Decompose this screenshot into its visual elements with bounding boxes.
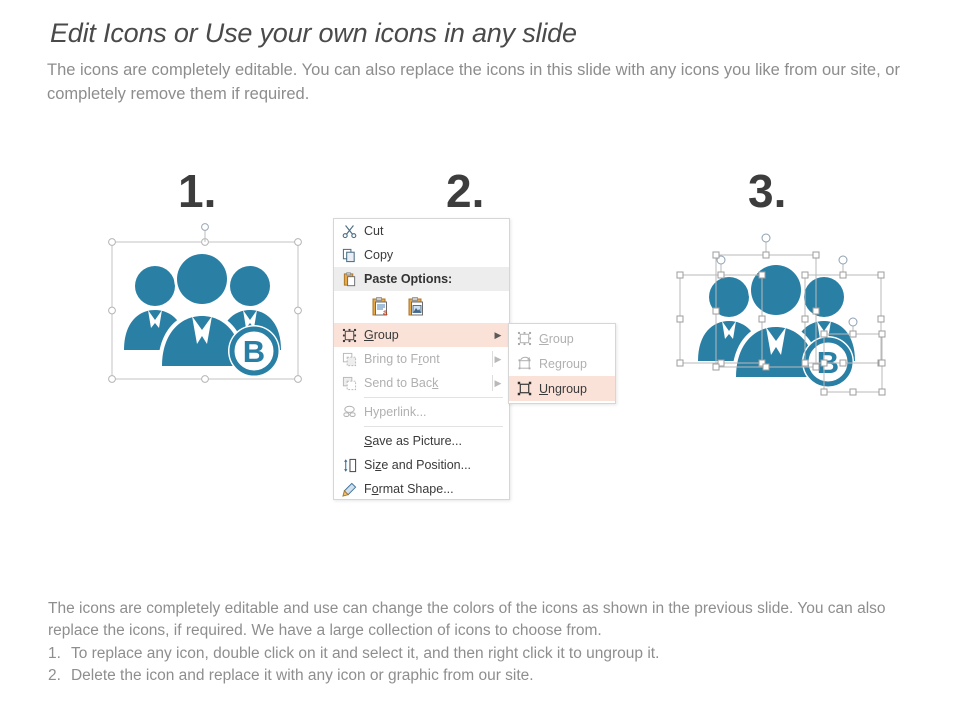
- team-of-three-icon-artwork: [124, 250, 281, 377]
- menu-item-hyperlink[interactable]: Hyperlink...: [334, 400, 509, 424]
- menu-separator: [364, 397, 503, 398]
- resize-handle[interactable]: [713, 364, 719, 370]
- paste-options-row[interactable]: a: [334, 291, 509, 323]
- resize-handle[interactable]: [713, 252, 719, 258]
- submenu-item-ungroup[interactable]: Ungroup: [509, 376, 615, 401]
- footer-list: 1. To replace any icon, double click on …: [48, 643, 938, 688]
- menu-item-cut[interactable]: Cut: [334, 219, 509, 243]
- hyperlink-icon: [334, 400, 364, 424]
- resize-handle[interactable]: [813, 364, 819, 370]
- send-to-back-icon: [334, 371, 364, 395]
- resize-handle[interactable]: [713, 308, 719, 314]
- submenu-item-label: Regroup: [539, 357, 611, 371]
- list-marker: 2.: [48, 665, 61, 687]
- bring-to-front-icon: [334, 347, 364, 371]
- menu-item-label: Bring to Front: [364, 352, 491, 366]
- page-title: Edit Icons or Use your own icons in any …: [50, 18, 577, 49]
- svg-text:a: a: [383, 308, 388, 317]
- list-text: Delete the icon and replace it with any …: [71, 665, 534, 687]
- rotation-handle[interactable]: [202, 224, 209, 231]
- resize-handle-s[interactable]: [202, 376, 209, 383]
- resize-handle[interactable]: [763, 364, 769, 370]
- resize-handle[interactable]: [813, 252, 819, 258]
- resize-handle[interactable]: [802, 360, 808, 366]
- resize-handle[interactable]: [718, 272, 724, 278]
- size-position-icon: [334, 453, 364, 477]
- resize-handle[interactable]: [677, 272, 683, 278]
- resize-handle[interactable]: [879, 389, 885, 395]
- resize-handle[interactable]: [840, 360, 846, 366]
- resize-handle[interactable]: [677, 316, 683, 322]
- list-marker: 1.: [48, 643, 61, 665]
- menu-item-label: Format Shape...: [364, 482, 505, 496]
- footer-notes: The icons are completely editable and us…: [48, 598, 938, 687]
- submenu-item-group[interactable]: Group: [509, 326, 615, 351]
- resize-handle-sw[interactable]: [109, 376, 116, 383]
- menu-item-label: Cut: [364, 224, 505, 238]
- group-icon: [509, 327, 539, 351]
- step-number-3: 3.: [748, 168, 786, 214]
- resize-handle[interactable]: [821, 360, 827, 366]
- menu-item-label: Send to Back: [364, 376, 491, 390]
- team-of-three-icon-artwork: [698, 261, 855, 388]
- list-text: To replace any icon, double click on it …: [71, 643, 659, 665]
- regroup-icon: [509, 352, 539, 376]
- submenu-item-label: Ungroup: [539, 382, 611, 396]
- menu-item-copy[interactable]: Copy: [334, 243, 509, 267]
- resize-handle[interactable]: [821, 389, 827, 395]
- chevron-right-icon: ▶: [491, 354, 505, 365]
- resize-handle[interactable]: [840, 272, 846, 278]
- menu-item-size-and-position[interactable]: Size and Position...: [334, 453, 509, 477]
- resize-handle[interactable]: [813, 308, 819, 314]
- resize-handle[interactable]: [759, 272, 765, 278]
- menu-item-label: Size and Position...: [364, 458, 505, 472]
- menu-divider: [492, 351, 493, 367]
- submenu-item-label: Group: [539, 332, 611, 346]
- menu-item-bring-to-front[interactable]: Bring to Front ▶: [334, 347, 509, 371]
- resize-handle-nw[interactable]: [109, 239, 116, 246]
- resize-handle[interactable]: [759, 316, 765, 322]
- resize-handle[interactable]: [878, 316, 884, 322]
- resize-handle[interactable]: [850, 331, 856, 337]
- menu-item-label: Save as Picture...: [364, 434, 505, 448]
- no-icon: [334, 429, 364, 453]
- resize-handle[interactable]: [878, 272, 884, 278]
- chevron-right-icon: ▶: [491, 330, 505, 341]
- menu-divider: [492, 375, 493, 391]
- rotation-handle-right-person[interactable]: [839, 256, 847, 264]
- slide-canvas: Edit Icons or Use your own icons in any …: [0, 0, 960, 720]
- context-menu[interactable]: Cut Copy Paste Options:: [333, 218, 510, 500]
- resize-handle[interactable]: [879, 331, 885, 337]
- team-icon-ungrouped[interactable]: [672, 233, 887, 408]
- list-item: 2. Delete the icon and replace it with a…: [48, 665, 938, 687]
- menu-item-label: Paste Options:: [364, 272, 505, 286]
- resize-handle[interactable]: [879, 360, 885, 366]
- resize-handle[interactable]: [802, 316, 808, 322]
- group-icon: [334, 323, 364, 347]
- menu-item-label: Hyperlink...: [364, 405, 505, 419]
- menu-item-paste-options: Paste Options:: [334, 267, 509, 291]
- resize-handle[interactable]: [821, 331, 827, 337]
- menu-item-send-to-back[interactable]: Send to Back ▶: [334, 371, 509, 395]
- page-subtitle: The icons are completely editable. You c…: [47, 58, 927, 107]
- step-number-2: 2.: [446, 168, 484, 214]
- menu-item-group[interactable]: Group ▶: [334, 323, 509, 347]
- resize-handle-w[interactable]: [109, 307, 116, 314]
- ungroup-icon: [509, 377, 539, 401]
- format-shape-icon: [334, 477, 364, 501]
- chevron-right-icon: ▶: [491, 378, 505, 389]
- copy-icon: [334, 243, 364, 267]
- rotation-handle-center-person[interactable]: [762, 234, 770, 242]
- resize-handle-se[interactable]: [295, 376, 302, 383]
- resize-handle[interactable]: [802, 272, 808, 278]
- menu-item-format-shape[interactable]: Format Shape...: [334, 477, 509, 501]
- footer-paragraph: The icons are completely editable and us…: [48, 598, 938, 643]
- menu-item-label: Group: [364, 328, 491, 342]
- scissors-icon: [334, 219, 364, 243]
- paste-picture-icon[interactable]: [404, 294, 430, 320]
- resize-handle[interactable]: [850, 389, 856, 395]
- clipboard-icon: [334, 267, 364, 291]
- rotation-handle-badge[interactable]: [849, 318, 857, 326]
- resize-handle-ne[interactable]: [295, 239, 302, 246]
- team-icon-grouped[interactable]: B: [110, 238, 300, 383]
- resize-handle-e[interactable]: [295, 307, 302, 314]
- group-submenu[interactable]: Group Regroup: [508, 323, 616, 404]
- paste-keep-text-only-icon[interactable]: a: [368, 294, 394, 320]
- menu-separator: [364, 426, 503, 427]
- resize-handle[interactable]: [763, 252, 769, 258]
- resize-handle[interactable]: [677, 360, 683, 366]
- step-number-1: 1.: [178, 168, 216, 214]
- submenu-item-regroup[interactable]: Regroup: [509, 351, 615, 376]
- menu-item-save-as-picture[interactable]: Save as Picture...: [334, 429, 509, 453]
- menu-item-label: Copy: [364, 248, 505, 262]
- list-item: 1. To replace any icon, double click on …: [48, 643, 938, 665]
